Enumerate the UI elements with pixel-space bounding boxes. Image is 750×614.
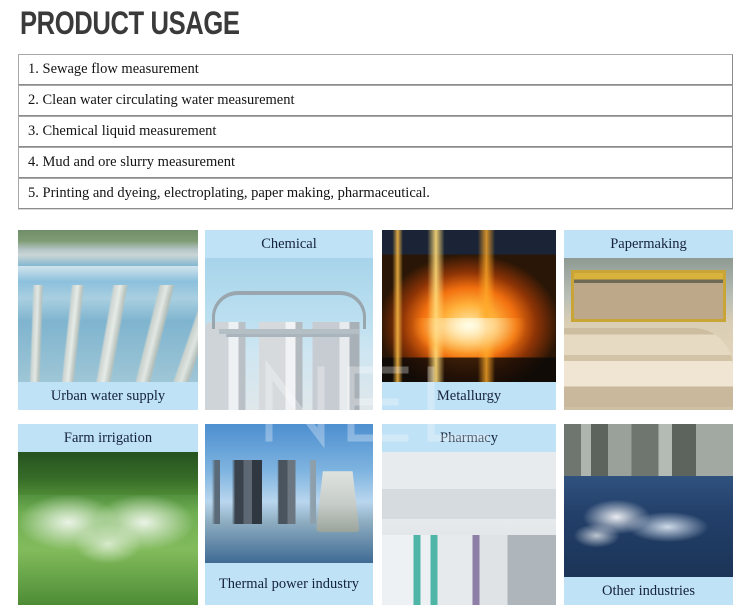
usage-list-item-1: 1. Sewage flow measurement xyxy=(19,61,199,78)
gallery-cell-papermaking: Papermaking xyxy=(564,230,733,410)
photo-thermal-power-plant xyxy=(205,424,373,563)
photo-chemical-plant xyxy=(205,258,373,410)
product-usage-list: 1. Sewage flow measurement 2. Clean wate… xyxy=(18,54,733,209)
photo-urban-water-supply xyxy=(18,230,198,382)
photo-farm-irrigation xyxy=(18,452,198,605)
gallery-caption: Pharmacy xyxy=(382,424,556,452)
application-gallery: Urban water supply Chemical Metallurgy P… xyxy=(18,230,733,605)
usage-list-row: 2. Clean water circulating water measure… xyxy=(18,85,733,116)
gallery-cell-urban-water-supply: Urban water supply xyxy=(18,230,198,410)
gallery-caption: Farm irrigation xyxy=(18,424,198,452)
photo-metallurgy-furnace xyxy=(382,230,556,382)
usage-list-item-5: 5. Printing and dyeing, electroplating, … xyxy=(19,185,430,202)
gallery-cell-pharmacy: Pharmacy xyxy=(382,424,556,605)
gallery-cell-chemical: Chemical xyxy=(205,230,373,410)
gallery-caption: Urban water supply xyxy=(18,382,198,410)
usage-list-item-2: 2. Clean water circulating water measure… xyxy=(19,92,295,109)
usage-list-row: 1. Sewage flow measurement xyxy=(18,54,733,85)
gallery-cell-thermal-power-industry: Thermal power industry xyxy=(205,424,373,605)
page-title: PRODUCT USAGE xyxy=(20,6,240,40)
gallery-caption: Other industries xyxy=(564,577,733,605)
gallery-cell-farm-irrigation: Farm irrigation xyxy=(18,424,198,605)
gallery-caption: Papermaking xyxy=(564,230,733,258)
usage-list-row: 4. Mud and ore slurry measurement xyxy=(18,147,733,178)
gallery-caption: Thermal power industry xyxy=(205,563,373,605)
usage-list-item-3: 3. Chemical liquid measurement xyxy=(19,123,216,140)
photo-papermaking-rolls xyxy=(564,258,733,410)
gallery-cell-metallurgy: Metallurgy xyxy=(382,230,556,410)
photo-pharmacy-lab xyxy=(382,452,556,605)
gallery-caption: Chemical xyxy=(205,230,373,258)
usage-list-item-4: 4. Mud and ore slurry measurement xyxy=(19,154,235,171)
gallery-cell-other-industries: Other industries xyxy=(564,424,733,605)
photo-other-industries xyxy=(564,424,733,577)
gallery-caption: Metallurgy xyxy=(382,382,556,410)
usage-list-row: 5. Printing and dyeing, electroplating, … xyxy=(18,178,733,209)
usage-list-row: 3. Chemical liquid measurement xyxy=(18,116,733,147)
